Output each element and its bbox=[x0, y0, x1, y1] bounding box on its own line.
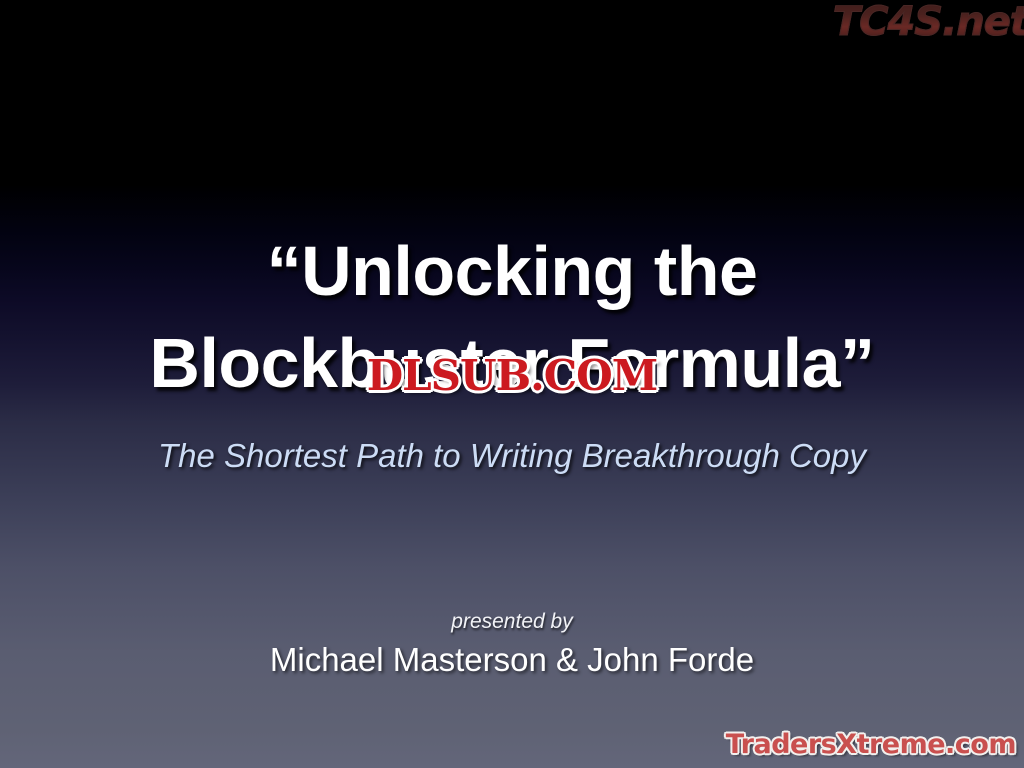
tc4s-watermark: TC4S.net bbox=[833, 2, 1024, 42]
presenter-block: presented by Michael Masterson & John Fo… bbox=[0, 610, 1024, 679]
tradersxtreme-watermark: TradersXtreme.com bbox=[726, 731, 1016, 758]
presented-by-label: presented by bbox=[0, 610, 1024, 634]
presenter-names: Michael Masterson & John Forde bbox=[0, 641, 1024, 679]
title-line-1: “Unlocking the bbox=[0, 236, 1024, 306]
presentation-slide: TC4S.net “Unlocking the Blockbuster Form… bbox=[0, 0, 1024, 768]
dlsub-watermark: DLSUB.COM bbox=[367, 355, 658, 397]
slide-subtitle: The Shortest Path to Writing Breakthroug… bbox=[0, 437, 1024, 475]
